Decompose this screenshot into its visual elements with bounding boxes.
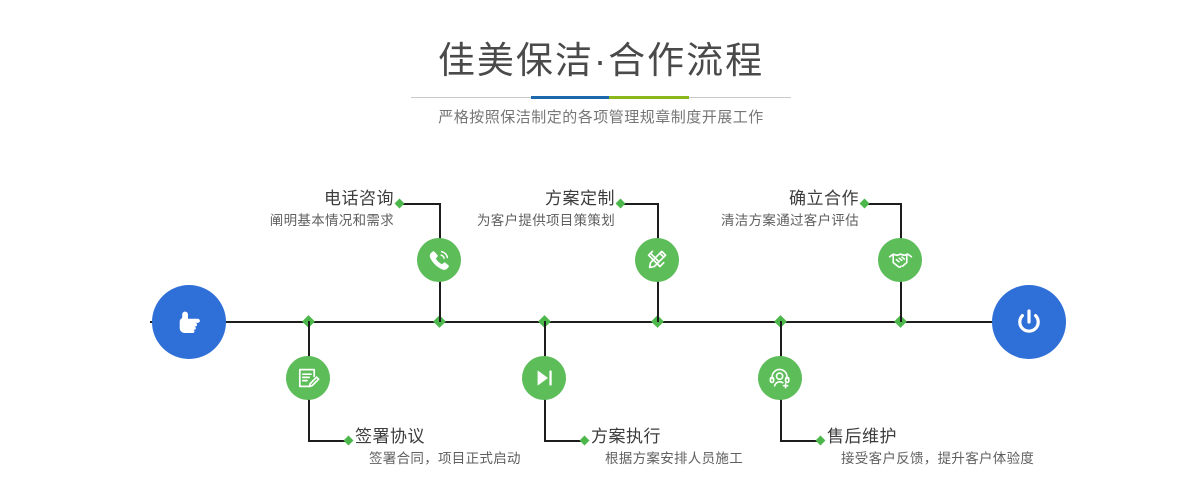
node-icon-play-execute[interactable] xyxy=(522,356,566,400)
step-title: 确立合作 xyxy=(604,188,859,210)
customer-support-icon xyxy=(766,364,794,392)
step-label-bottom-1: 签署协议 签署合同，项目正式启动 xyxy=(355,426,521,469)
step-desc: 阐明基本情况和需求 xyxy=(139,210,394,231)
step-title: 方案定制 xyxy=(360,188,615,210)
step-label-top-1: 电话咨询 阐明基本情况和需求 xyxy=(139,188,394,231)
step-label-bottom-2: 方案执行 根据方案安排人员施工 xyxy=(591,426,743,469)
step-desc: 清洁方案通过客户评估 xyxy=(604,210,859,231)
label-marker-bottom-2 xyxy=(580,436,590,446)
handshake-icon xyxy=(886,246,914,274)
label-marker-bottom-3 xyxy=(816,436,826,446)
step-label-top-3: 确立合作 清洁方案通过客户评估 xyxy=(604,188,859,231)
step-label-bottom-3: 售后维护 接受客户反馈，提升客户体验度 xyxy=(827,426,1034,469)
timeline-start-endpoint xyxy=(152,285,226,359)
phone-call-icon xyxy=(425,246,453,274)
title-divider xyxy=(411,96,791,99)
connector-horizontal-top-3 xyxy=(866,203,901,205)
document-sign-icon xyxy=(294,364,322,392)
label-marker-top-3 xyxy=(860,199,870,209)
pointing-hand-icon xyxy=(169,302,209,342)
step-desc: 根据方案安排人员施工 xyxy=(591,448,743,469)
timeline-end-endpoint xyxy=(992,285,1066,359)
step-title: 方案执行 xyxy=(591,426,743,448)
step-desc: 接受客户反馈，提升客户体验度 xyxy=(827,448,1034,469)
step-title: 签署协议 xyxy=(355,426,521,448)
step-desc: 签署合同，项目正式启动 xyxy=(355,448,521,469)
power-icon xyxy=(1009,302,1049,342)
label-marker-bottom-1 xyxy=(344,436,354,446)
node-icon-pencil-ruler[interactable] xyxy=(635,238,679,282)
connector-horizontal-bottom-3 xyxy=(780,440,819,442)
page-subtitle: 严格按照保洁制定的各项管理规章制度开展工作 xyxy=(0,106,1202,130)
connector-horizontal-bottom-2 xyxy=(544,440,583,442)
timeline-axis xyxy=(150,321,1052,323)
step-title: 电话咨询 xyxy=(139,188,394,210)
step-title: 售后维护 xyxy=(827,426,1034,448)
connector-horizontal-bottom-1 xyxy=(308,440,347,442)
step-label-top-2: 方案定制 为客户提供项目策策划 xyxy=(360,188,615,231)
node-icon-customer-support[interactable] xyxy=(758,356,802,400)
page-title: 佳美保洁·合作流程 xyxy=(0,38,1202,84)
flowchart-page: 佳美保洁·合作流程 严格按照保洁制定的各项管理规章制度开展工作 xyxy=(0,0,1202,502)
node-icon-handshake[interactable] xyxy=(878,238,922,282)
node-icon-document-sign[interactable] xyxy=(286,356,330,400)
pencil-ruler-icon xyxy=(643,246,671,274)
divider-blue-segment xyxy=(531,96,609,99)
play-execute-icon xyxy=(530,364,558,392)
node-icon-phone-call[interactable] xyxy=(417,238,461,282)
divider-green-segment xyxy=(609,96,689,99)
step-desc: 为客户提供项目策策划 xyxy=(360,210,615,231)
